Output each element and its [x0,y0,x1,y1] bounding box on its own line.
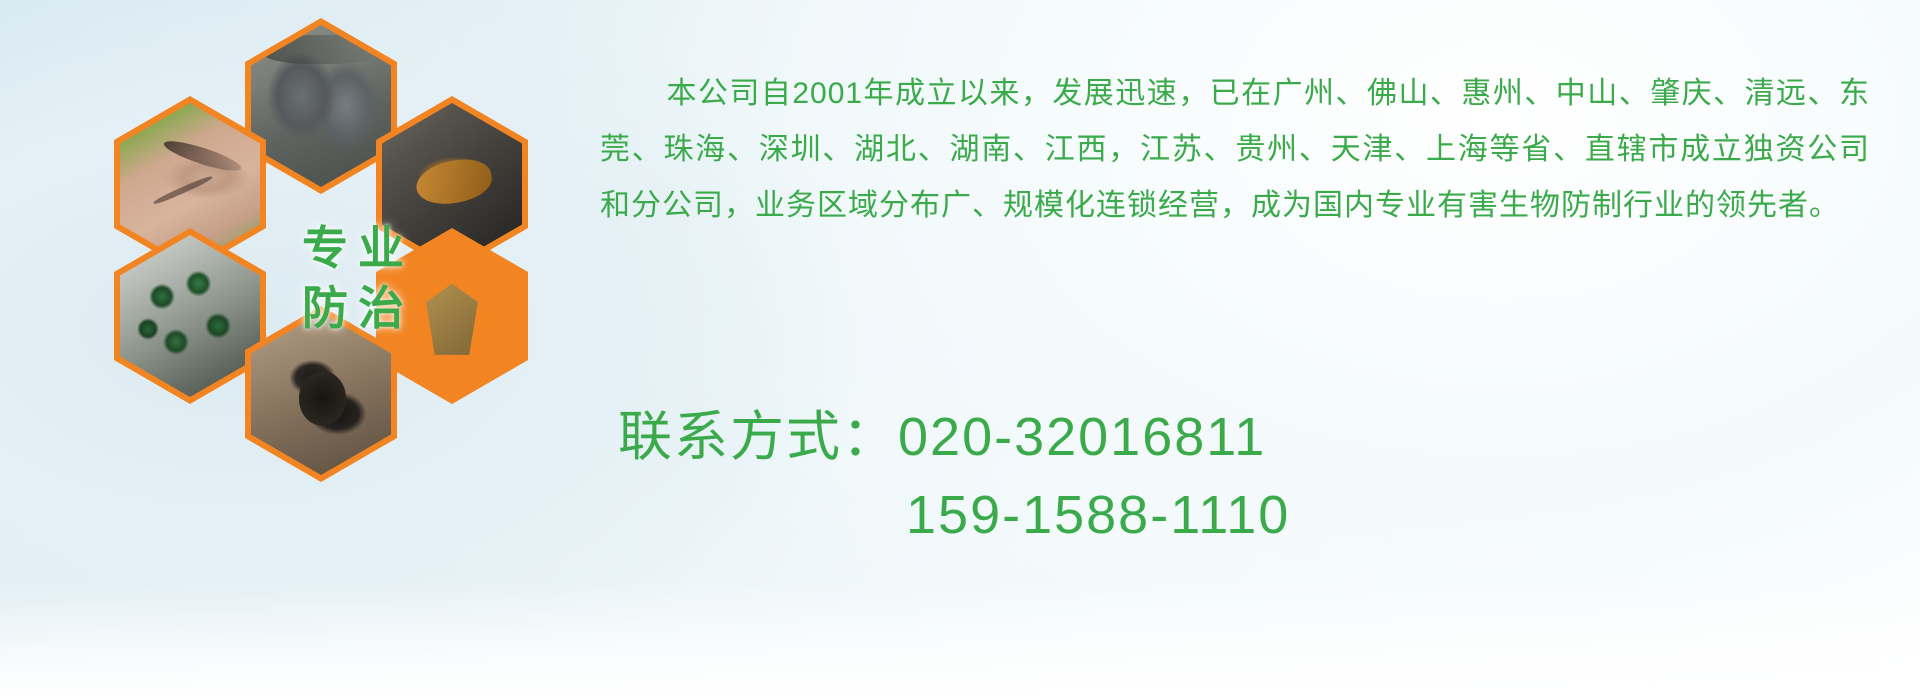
pest-control-banner: 专业 防治 本公司自2001年成立以来，发展迅速，已在广州、佛山、惠州、中山、肇… [0,0,1920,700]
intro-copy-block: 本公司自2001年成立以来，发展迅速，已在广州、佛山、惠州、中山、肇庆、清远、东… [600,36,1870,264]
hex-inner-rats [251,25,391,187]
hex-inner-ant [251,313,391,475]
phone-secondary[interactable]: 159-1588-1110 [906,485,1290,545]
ant-photo [251,313,391,475]
hex-inner-stinkbug [382,235,522,397]
flies-photo [120,235,260,397]
company-intro-paragraph: 本公司自2001年成立以来，发展迅速，已在广州、佛山、惠州、中山、肇庆、清远、东… [600,66,1870,234]
hex-cell-ant [245,306,397,482]
hex-cell-rats [245,18,397,194]
hex-cell-flies [114,228,266,404]
contact-label: 联系方式： [618,407,898,467]
hex-cell-stinkbug [376,228,528,404]
hex-inner-flies [120,235,260,397]
contact-block: 联系方式：020-32016811 159-1588-1110 [618,398,1718,554]
company-intro-text: 本公司自2001年成立以来，发展迅速，已在广州、佛山、惠州、中山、肇庆、清远、东… [600,77,1870,222]
contact-secondary-line: 159-1588-1110 [618,476,1718,554]
rats-photo [251,25,391,187]
phone-primary[interactable]: 020-32016811 [898,407,1266,467]
contact-primary-line: 联系方式：020-32016811 [618,398,1718,476]
hexagon-photo-cluster: 专业 防治 [95,18,595,563]
stinkbug-photo [382,235,522,397]
